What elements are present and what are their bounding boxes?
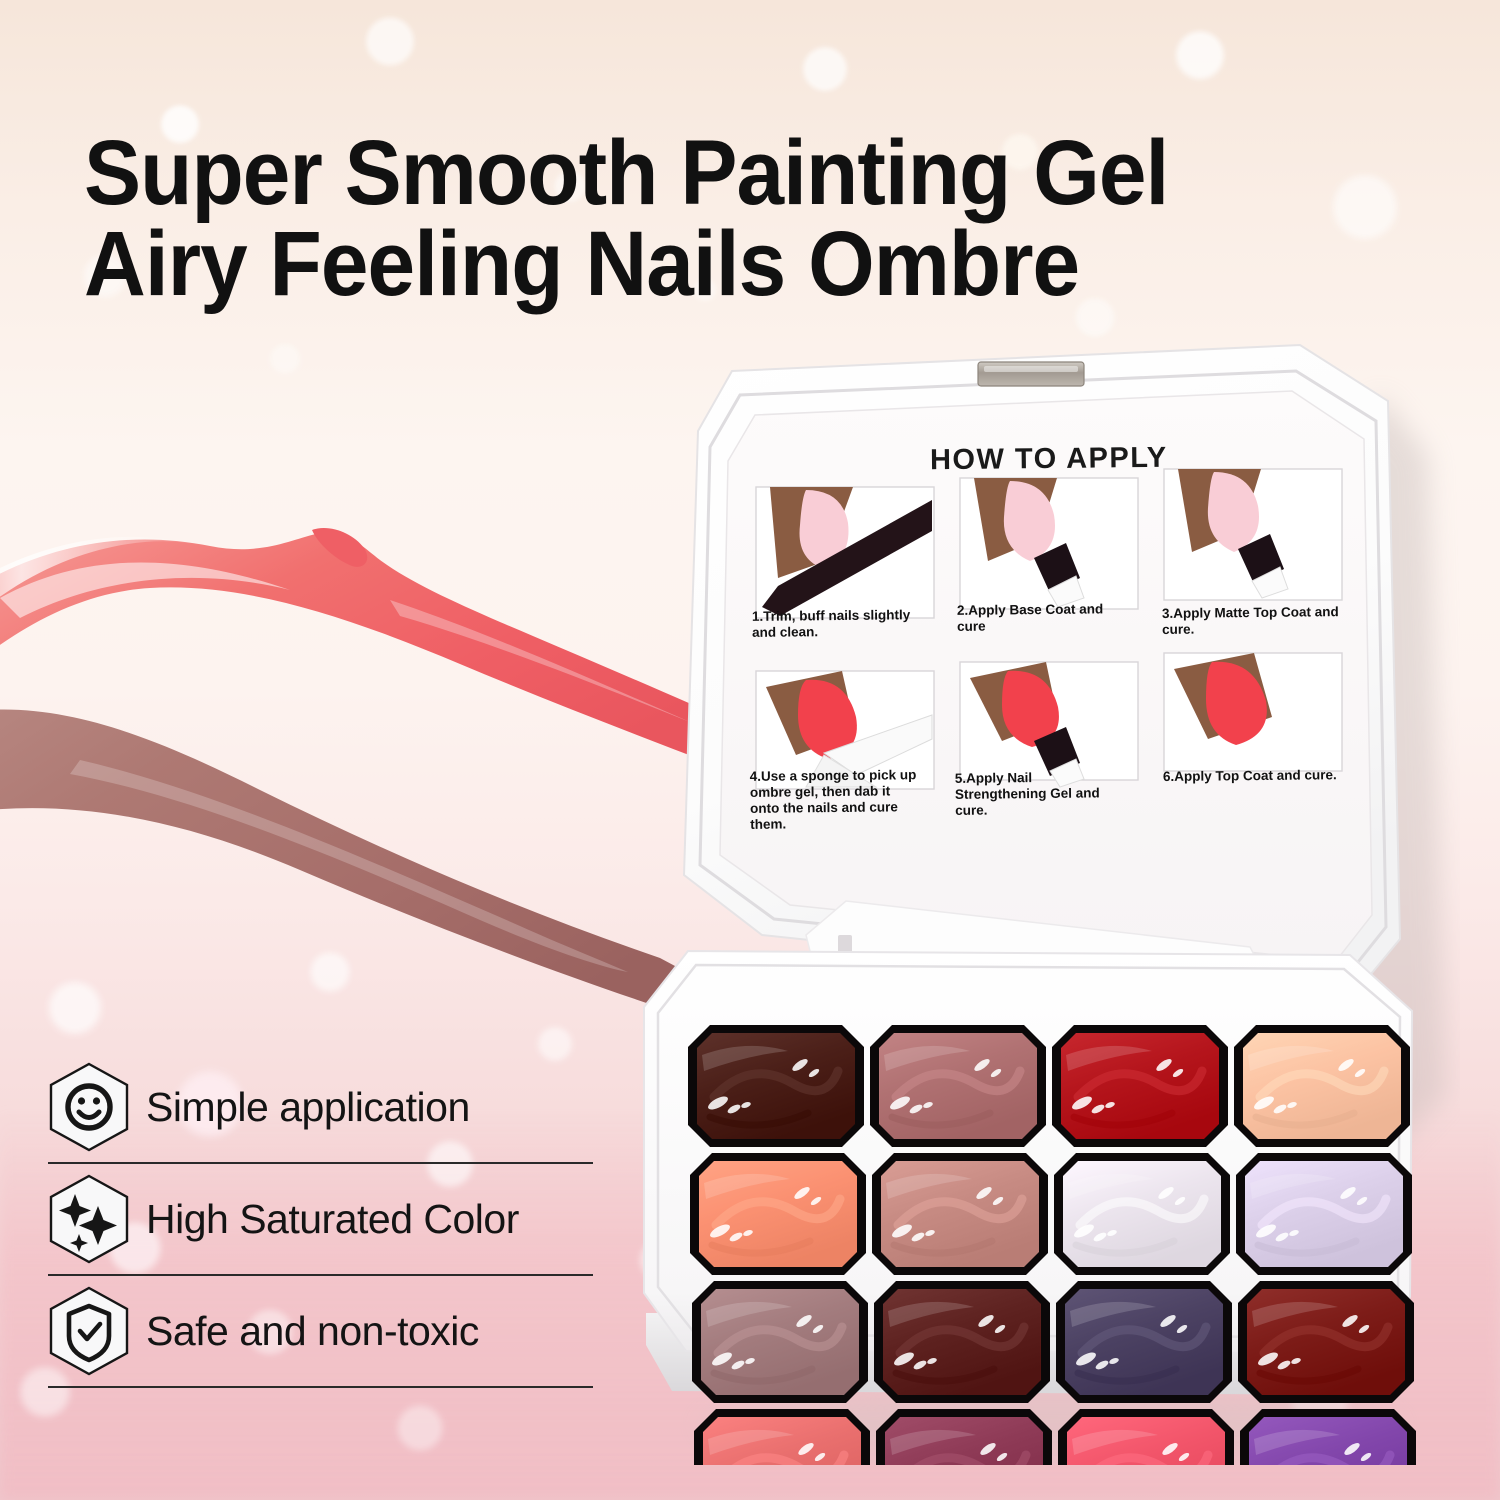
feature-item-simple-application[interactable]: Simple application — [48, 1052, 593, 1162]
clasp-highlight — [984, 366, 1078, 372]
feature-list: Simple application High Saturated Color … — [48, 1052, 593, 1388]
swatch-pan-2-3[interactable] — [1054, 1153, 1230, 1275]
swatch-pan-4-3[interactable] — [1058, 1409, 1234, 1465]
swatch-pan-3-2[interactable] — [874, 1281, 1050, 1403]
shield-check-icon — [48, 1286, 130, 1376]
feature-item-high-saturated-color[interactable]: High Saturated Color — [48, 1164, 593, 1274]
feature-divider-3 — [48, 1386, 593, 1388]
swatch-pan-2-1[interactable] — [690, 1153, 866, 1275]
swatch-pan-1-2[interactable] — [870, 1025, 1046, 1147]
feature-item-safe-non-toxic[interactable]: Safe and non-toxic — [48, 1276, 593, 1386]
page-title: Super Smooth Painting Gel Airy Feeling N… — [84, 128, 1367, 310]
swatch-pan-1-1[interactable] — [688, 1025, 864, 1147]
swatch-pan-1-3[interactable] — [1052, 1025, 1228, 1147]
feature-label: Safe and non-toxic — [146, 1308, 479, 1355]
swatch-pan-4-2[interactable] — [876, 1409, 1052, 1465]
palette-lid[interactable] — [684, 345, 1400, 997]
swatch-pan-1-4[interactable] — [1234, 1025, 1410, 1147]
step-thumb-5 — [960, 662, 1138, 787]
step-thumb-4 — [756, 671, 934, 789]
smiley-face-icon — [48, 1062, 130, 1152]
step-thumb-6 — [1164, 653, 1342, 771]
swatch-pan-2-4[interactable] — [1236, 1153, 1412, 1275]
step-thumb-3 — [1164, 469, 1342, 600]
swatch-pan-4-1[interactable] — [694, 1409, 870, 1465]
swatch-pan-2-2[interactable] — [872, 1153, 1048, 1275]
step-thumb-2 — [960, 478, 1138, 609]
swatch-pan-3-1[interactable] — [692, 1281, 868, 1403]
sparkles-icon — [48, 1174, 130, 1264]
headline-line-2: Airy Feeling Nails Ombre — [84, 219, 1367, 310]
swatch-pan-3-4[interactable] — [1238, 1281, 1414, 1403]
headline-line-1: Super Smooth Painting Gel — [84, 128, 1367, 219]
step-thumb-1 — [756, 487, 934, 618]
feature-label: Simple application — [146, 1084, 470, 1131]
lid-clasp-tab[interactable] — [978, 362, 1084, 386]
swatch-pan-4-4[interactable] — [1240, 1409, 1416, 1465]
swatch-pan-3-3[interactable] — [1056, 1281, 1232, 1403]
nail-gel-palette[interactable] — [610, 335, 1460, 1465]
feature-label: High Saturated Color — [146, 1196, 519, 1243]
